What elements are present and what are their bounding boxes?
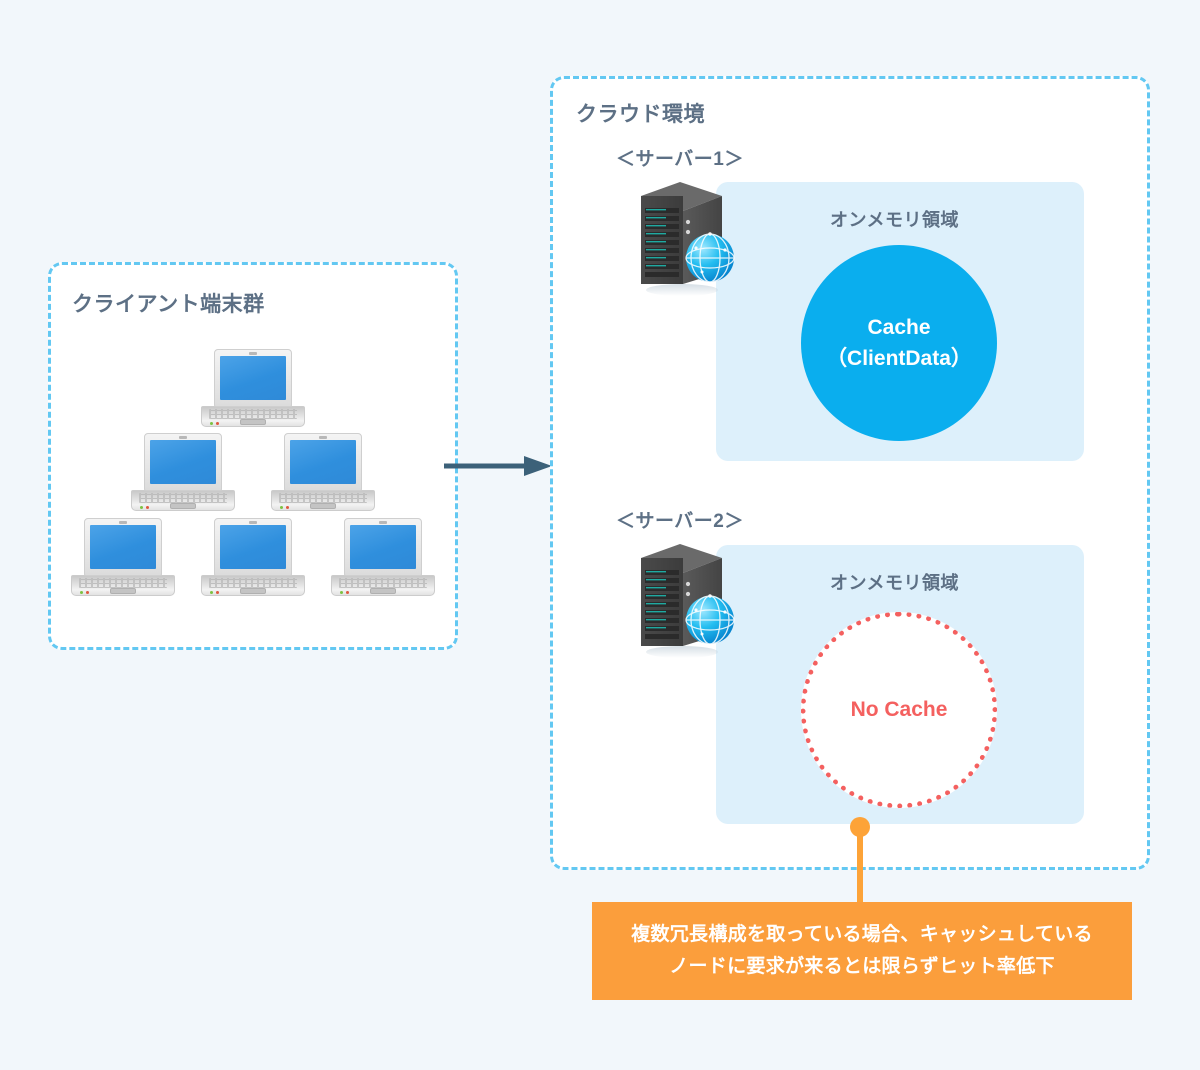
client-group-title: クライアント端末群 [72, 288, 265, 318]
memory-region-label-server-1: オンメモリ領域 [830, 206, 959, 232]
callout-note-line-2: ノードに要求が来るとは限らずヒット率低下 [631, 951, 1093, 983]
diagram-canvas: クライアント端末群 [0, 0, 1200, 1070]
laptop-lid [84, 518, 162, 576]
laptop-led-green [80, 591, 83, 594]
callout-connector-dot [850, 817, 870, 837]
laptop-icon [131, 433, 235, 511]
laptop-led-green [280, 506, 283, 509]
laptop-led-green [210, 422, 213, 425]
laptop-camera [319, 436, 327, 439]
callout-note-line-1: 複数冗長構成を取っている場合、キャッシュしている [631, 919, 1093, 951]
laptop-icon [71, 518, 175, 596]
laptop-touchpad [310, 503, 336, 509]
laptop-led-green [340, 591, 343, 594]
laptop-camera [249, 521, 257, 524]
laptop-camera [379, 521, 387, 524]
laptop-led-red [346, 591, 349, 594]
laptop-led-red [146, 506, 149, 509]
no-cache-label: No Cache [851, 698, 948, 722]
laptop-row [48, 518, 458, 596]
laptop-lid [144, 433, 222, 491]
callout-note: 複数冗長構成を取っている場合、キャッシュしている ノードに要求が来るとは限らずヒ… [592, 902, 1132, 1000]
laptop-led-red [216, 422, 219, 425]
server-tower-icon [630, 540, 742, 660]
laptop-keyboard [209, 578, 297, 588]
server-2-label: ＜サーバー2＞ [616, 506, 744, 533]
cache-circle-line-1: Cache [867, 312, 930, 344]
laptop-icon [201, 518, 305, 596]
laptop-touchpad [370, 588, 396, 594]
laptop-touchpad [240, 419, 266, 425]
laptop-keyboard [339, 578, 427, 588]
laptop-lid [284, 433, 362, 491]
server-1-label: ＜サーバー1＞ [616, 144, 744, 171]
laptop-keyboard [279, 493, 367, 503]
laptop-led-green [140, 506, 143, 509]
laptop-screen [150, 440, 216, 484]
server-tower-icon [630, 178, 742, 298]
laptop-keyboard [139, 493, 227, 503]
laptop-camera [179, 436, 187, 439]
callout-connector-line [857, 827, 863, 907]
laptop-row [48, 433, 458, 511]
laptop-keyboard [209, 409, 297, 419]
laptop-screen [350, 525, 416, 569]
laptop-camera [249, 352, 257, 355]
laptop-led-red [86, 591, 89, 594]
laptop-touchpad [240, 588, 266, 594]
laptop-row [48, 349, 458, 427]
laptop-touchpad [170, 503, 196, 509]
laptop-lid [344, 518, 422, 576]
cloud-group-title: クラウド環境 [576, 98, 705, 128]
laptop-screen [90, 525, 156, 569]
laptop-screen [220, 525, 286, 569]
laptop-lid [214, 518, 292, 576]
laptop-icon [271, 433, 375, 511]
laptop-icon [331, 518, 435, 596]
memory-region-label-server-2: オンメモリ領域 [830, 569, 959, 595]
cache-circle-line-2: （ClientData） [826, 343, 972, 375]
laptop-lid [214, 349, 292, 407]
laptop-touchpad [110, 588, 136, 594]
laptop-icon [201, 349, 305, 427]
laptop-screen [290, 440, 356, 484]
laptop-camera [119, 521, 127, 524]
no-cache-circle-server-2: No Cache [801, 612, 997, 808]
laptop-screen [220, 356, 286, 400]
client-to-cloud-arrow [444, 455, 552, 477]
laptop-led-green [210, 591, 213, 594]
laptop-keyboard [79, 578, 167, 588]
cache-circle-server-1: Cache （ClientData） [801, 245, 997, 441]
laptop-led-red [286, 506, 289, 509]
laptop-led-red [216, 591, 219, 594]
